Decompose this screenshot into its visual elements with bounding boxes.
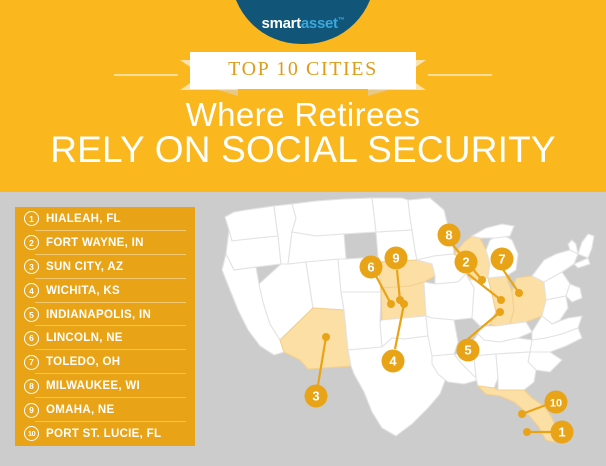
list-item[interactable]: 3 SUN CITY, AZ [15, 255, 195, 279]
city-label: PORT ST. LUCIE, FL [46, 428, 161, 440]
city-label: SUN CITY, AZ [46, 261, 123, 273]
logo-text: smartasset™ [262, 15, 345, 44]
rank-badge: 8 [24, 379, 39, 394]
list-item[interactable]: 1 HIALEAH, FL [15, 207, 195, 231]
marker-10-label: 10 [550, 398, 562, 410]
state-al [474, 354, 498, 388]
list-item[interactable]: 6 LINCOLN, NE [15, 326, 195, 350]
logo-asset-text: asset [301, 15, 338, 32]
state-ma [574, 258, 590, 268]
marker-10-dot [518, 410, 526, 418]
top-cities-list: 1 HIALEAH, FL 2 FORT WAYNE, IN 3 SUN CIT… [15, 207, 195, 446]
list-item[interactable]: 5 INDIANAPOLIS, IN [15, 303, 195, 327]
list-item[interactable]: 8 MILWAUKEE, WI [15, 374, 195, 398]
header-band: smartasset™ TOP 10 CITIES Where Retirees… [0, 0, 606, 192]
city-label: OMAHA, NE [46, 404, 115, 416]
rank-badge: 5 [24, 307, 39, 322]
marker-1-dot [523, 428, 531, 436]
state-ar [426, 316, 458, 356]
rank-badge: 2 [24, 235, 39, 250]
list-item[interactable]: 4 WICHITA, KS [15, 279, 195, 303]
marker-7-dot [515, 289, 523, 297]
rank-badge: 7 [24, 355, 39, 370]
city-label: LINCOLN, NE [46, 332, 123, 344]
infographic-root: smartasset™ TOP 10 CITIES Where Retirees… [0, 0, 606, 466]
marker-6-dot [387, 300, 395, 308]
page-title: RELY ON SOCIAL SECURITY [0, 131, 606, 168]
ribbon-banner: TOP 10 CITIES [0, 52, 606, 94]
ribbon-center-plate: TOP 10 CITIES [190, 52, 416, 89]
marker-5-dot [496, 308, 504, 316]
city-label: WICHITA, KS [46, 285, 120, 297]
us-map: 3 4 6 [196, 192, 606, 466]
list-item[interactable]: 2 FORT WAYNE, IN [15, 231, 195, 255]
ribbon-rule-right [428, 74, 492, 76]
state-mt [292, 198, 376, 236]
state-wa [225, 206, 278, 241]
logo-trademark-icon: ™ [338, 17, 345, 24]
rank-badge: 10 [24, 426, 39, 441]
state-nm [341, 292, 382, 350]
marker-5-label: 5 [464, 343, 471, 358]
state-me [578, 234, 594, 258]
state-nd [372, 198, 412, 232]
list-item[interactable]: 10 PORT ST. LUCIE, FL [15, 422, 195, 446]
marker-4-label: 4 [389, 354, 397, 369]
rank-badge: 4 [24, 283, 39, 298]
rank-badge: 1 [24, 211, 39, 226]
state-oh [510, 276, 546, 324]
state-mi-up [472, 224, 514, 238]
list-item[interactable]: 9 OMAHA, NE [15, 398, 195, 422]
logo-smart-text: smart [262, 15, 301, 32]
city-label: MILWAUKEE, WI [46, 380, 140, 392]
marker-2-dot [497, 296, 505, 304]
marker-7-label: 7 [498, 252, 505, 267]
state-wy [288, 232, 346, 264]
marker-3-dot [322, 333, 330, 341]
rank-badge: 3 [24, 259, 39, 274]
city-label: TOLEDO, OH [46, 356, 120, 368]
marker-9-label: 9 [392, 251, 399, 266]
marker-2-label: 2 [462, 255, 469, 270]
marker-6-label: 6 [367, 260, 374, 275]
rank-badge: 9 [24, 403, 39, 418]
marker-3-label: 3 [312, 389, 319, 404]
marker-9-dot [396, 296, 404, 304]
smartasset-logo[interactable]: smartasset™ [231, 0, 375, 44]
marker-8-label: 8 [445, 228, 452, 243]
list-item[interactable]: 7 TOLEDO, OH [15, 350, 195, 374]
city-label: HIALEAH, FL [46, 213, 121, 225]
title-subheading: Where Retirees [0, 98, 606, 131]
us-map-svg: 3 4 6 [196, 192, 606, 466]
marker-1-label: 1 [558, 425, 565, 440]
ribbon-label: TOP 10 CITIES [228, 58, 378, 80]
state-shapes [222, 198, 594, 442]
city-label: FORT WAYNE, IN [46, 237, 144, 249]
ribbon-rule-left [114, 74, 178, 76]
rank-badge: 6 [24, 331, 39, 346]
city-label: INDIANAPOLIS, IN [46, 309, 151, 321]
